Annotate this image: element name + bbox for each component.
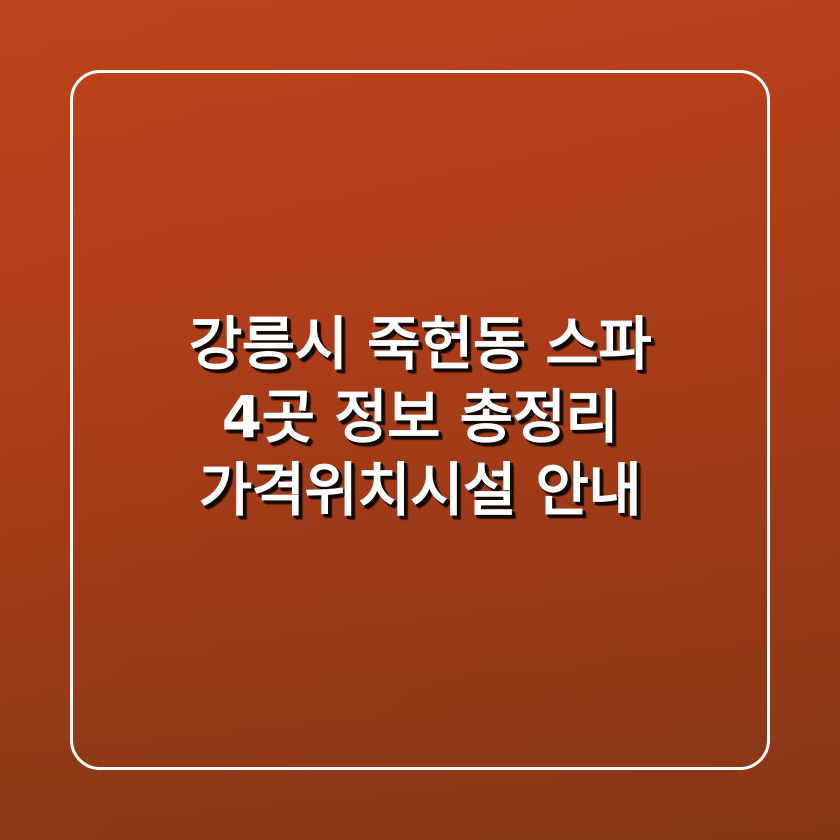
title-line-2: 4곳 정보 총정리 <box>0 381 840 454</box>
title-line-1: 강릉시 죽헌동 스파 <box>0 308 840 381</box>
title-line-3: 가격위치시설 안내 <box>0 454 840 527</box>
poster-canvas: 강릉시 죽헌동 스파 4곳 정보 총정리 가격위치시설 안내 <box>0 0 840 840</box>
poster-title: 강릉시 죽헌동 스파 4곳 정보 총정리 가격위치시설 안내 <box>0 308 840 527</box>
